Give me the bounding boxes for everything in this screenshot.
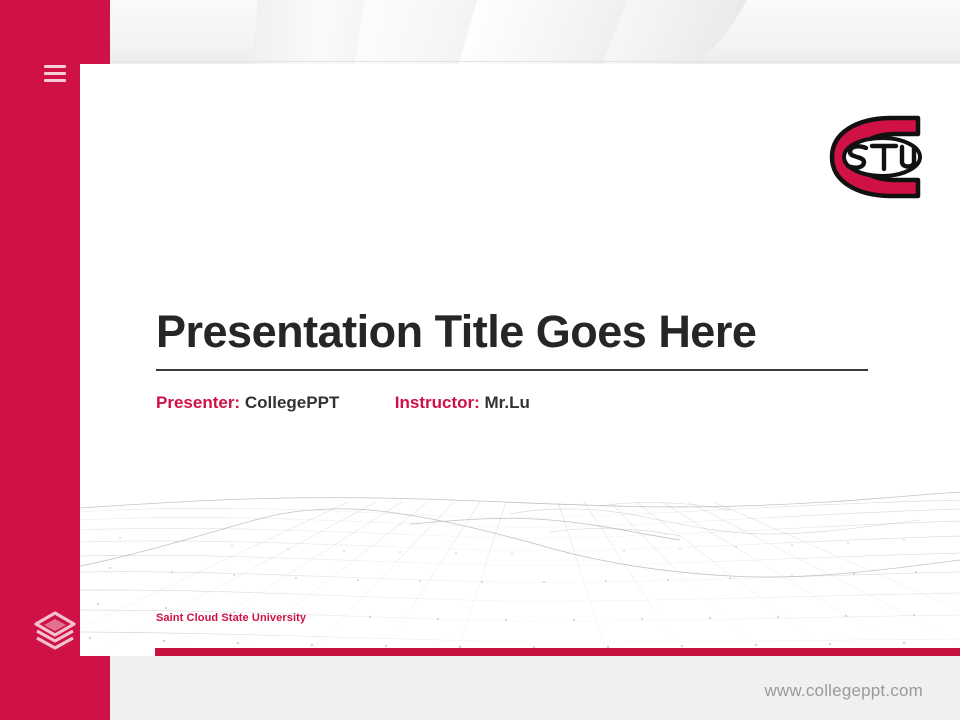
slide-stage: Presentation Title Goes Here Presenter: … [0,0,960,720]
decorative-backdrop [0,0,960,66]
presenter-value: CollegePPT [245,393,339,412]
site-watermark: www.collegeppt.com [764,681,923,701]
presenter-label: Presenter: [156,393,240,412]
presenter-meta-row: Presenter: CollegePPT Instructor: Mr.Lu [156,393,872,413]
title-block: Presentation Title Goes Here Presenter: … [156,306,872,413]
scsu-logo [822,114,930,200]
mesh-landscape-svg [80,476,960,656]
layers-stack-glyph [29,604,81,656]
scsu-logo-svg [822,114,930,200]
backdrop-hairline [110,61,960,62]
page-footer: www.collegeppt.com [110,656,960,720]
presentation-slide: Presentation Title Goes Here Presenter: … [80,64,960,656]
hamburger-menu-glyph [44,65,66,82]
mesh-landscape-graphic [80,476,960,656]
title-underline-rule [156,369,868,371]
backdrop-swoosh-1 [250,0,370,66]
page-title: Presentation Title Goes Here [156,306,872,358]
slide-accent-bar [155,648,960,656]
instructor-label: Instructor: [395,393,480,412]
instructor-value: Mr.Lu [485,393,530,412]
organization-name: Saint Cloud State University [156,612,306,624]
